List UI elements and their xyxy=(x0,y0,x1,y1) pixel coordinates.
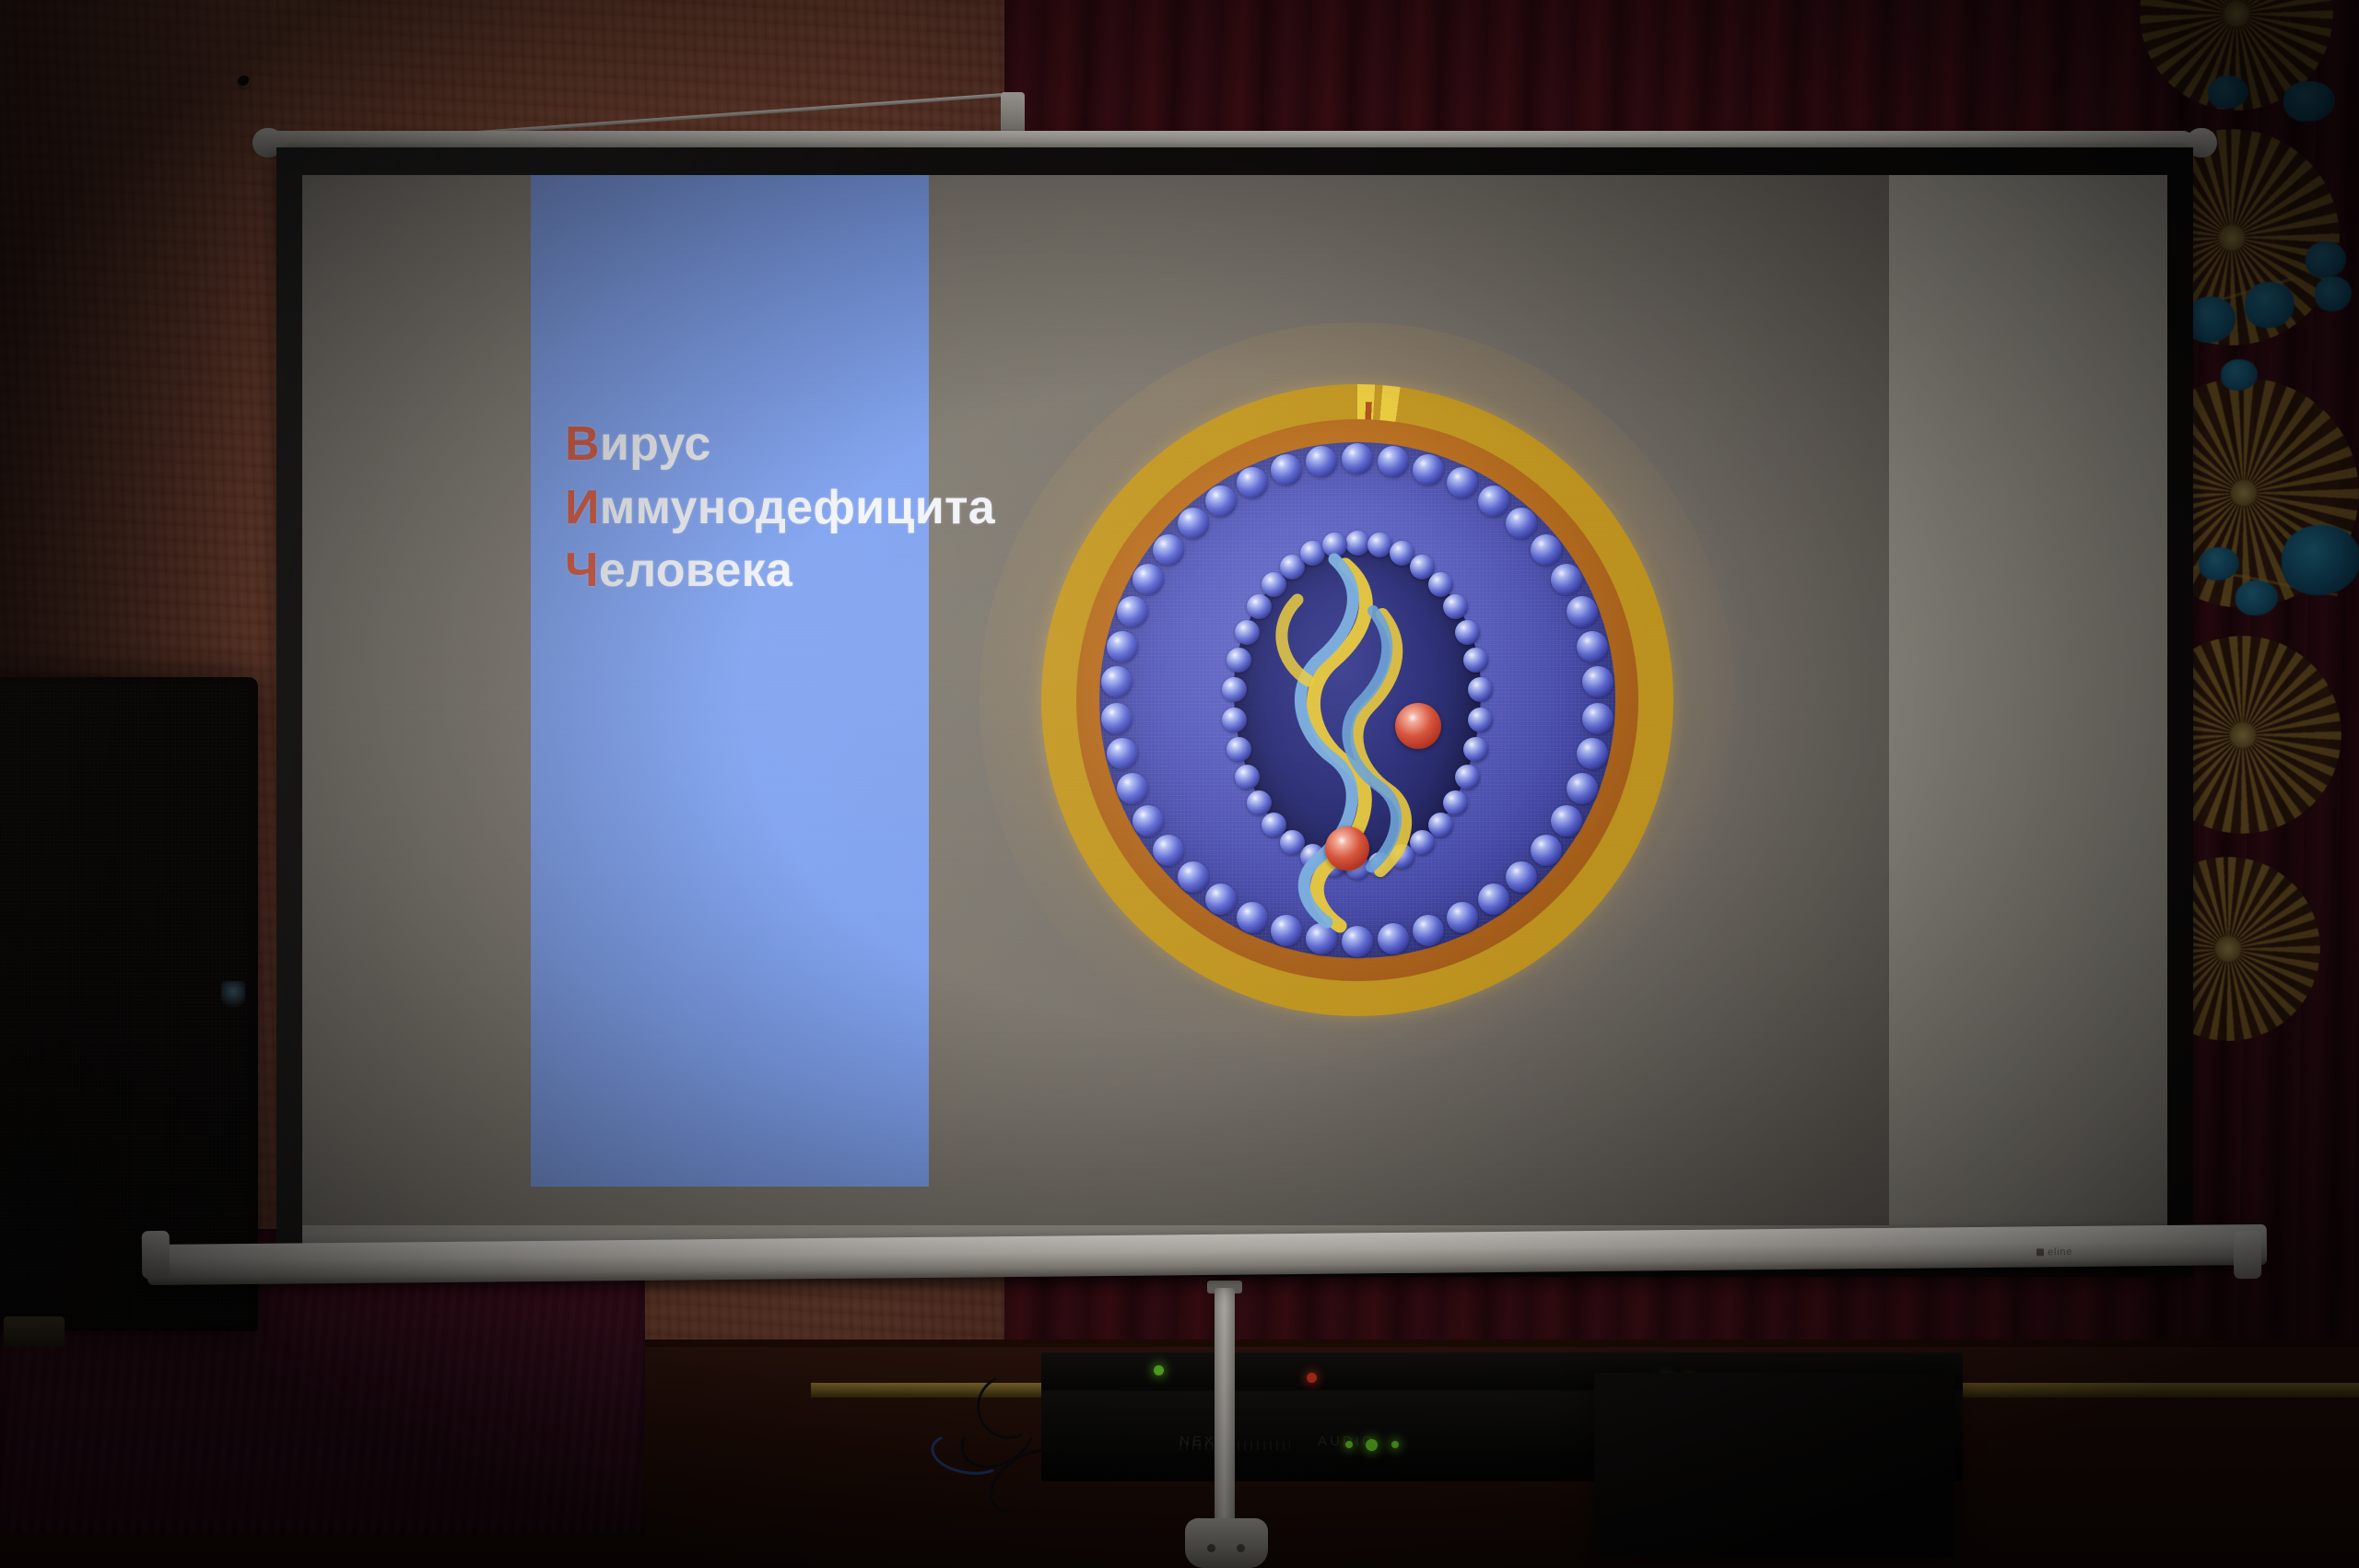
capsid-protein-bead xyxy=(1443,790,1468,815)
reverse-transcriptase-enzyme xyxy=(1325,826,1369,871)
status-led-green xyxy=(1366,1439,1378,1451)
blue-flower-ornament xyxy=(2315,276,2352,311)
title-line-rest: ммунодефицита xyxy=(600,481,995,534)
speaker-badge xyxy=(221,981,245,1011)
title-line-rest: еловека xyxy=(599,544,792,597)
capsid-protein-bead xyxy=(1463,737,1488,762)
capsid-protein-bead xyxy=(1222,708,1247,732)
blue-flower-ornament xyxy=(2236,580,2278,615)
capsid-protein-bead xyxy=(1367,852,1392,877)
screen-brand-text: eline xyxy=(2048,1246,2072,1258)
capsid-protein-bead xyxy=(1468,677,1493,702)
capsid-protein-bead xyxy=(1235,620,1260,645)
speaker-foot xyxy=(4,1316,65,1348)
projection-screen: Вирус Иммунодефицита Человека xyxy=(276,147,2193,1308)
capsid-protein-bead xyxy=(1222,677,1247,702)
capsid-protein-bead xyxy=(1345,531,1370,556)
photo-scene: NEXO AUDIO xyxy=(0,0,2359,1568)
tripod-hub xyxy=(1185,1518,1268,1568)
capsid-protein-bead xyxy=(1455,620,1480,645)
reverse-transcriptase-enzyme xyxy=(1395,703,1441,749)
status-led-green xyxy=(1154,1365,1164,1375)
capsid-protein-bead xyxy=(1247,790,1272,815)
capsid-protein-bead xyxy=(1226,648,1251,673)
status-led-green xyxy=(1391,1441,1399,1448)
capsid-protein-beads xyxy=(947,290,1767,1110)
capsid-protein-bead xyxy=(1247,594,1272,619)
bottom-bar-cap-right xyxy=(2234,1231,2261,1279)
capsid-protein-bead xyxy=(1262,572,1286,597)
capsid-protein-bead xyxy=(1300,844,1325,869)
slide-side-panel xyxy=(531,175,929,1187)
capsid-protein-bead xyxy=(1468,708,1493,732)
projected-slide: Вирус Иммунодефицита Человека xyxy=(302,175,1889,1225)
screen-black-border: Вирус Иммунодефицита Человека xyxy=(276,147,2193,1277)
capsid-protein-bead xyxy=(1455,765,1480,790)
capsid-protein-bead xyxy=(1443,594,1468,619)
status-led-red xyxy=(1307,1373,1317,1383)
capsid-protein-bead xyxy=(1262,813,1286,837)
capsid-protein-bead xyxy=(1235,765,1260,790)
title-accent-letter: И xyxy=(565,481,600,534)
title-accent-letter: Ч xyxy=(565,544,599,597)
capsid-protein-bead xyxy=(1463,648,1488,673)
capsid-protein-bead xyxy=(1390,844,1414,869)
capsid-protein-bead xyxy=(1226,737,1251,762)
blue-flower-ornament xyxy=(2283,81,2335,122)
nail-hole xyxy=(238,76,251,88)
speaker-grille xyxy=(0,683,249,1324)
hiv-virion-diagram xyxy=(947,290,1767,1110)
title-line-rest: ирус xyxy=(600,417,711,471)
screen-brand-logo: eline xyxy=(2036,1246,2121,1259)
capsid-protein-bead xyxy=(1322,532,1347,557)
capsid-protein-bead xyxy=(1428,572,1453,597)
capsid-protein-bead xyxy=(1428,813,1453,837)
loudspeaker-cabinet xyxy=(0,677,258,1331)
tripod-pole xyxy=(1215,1288,1235,1535)
blue-flower-ornament xyxy=(2282,525,2359,595)
title-accent-letter: В xyxy=(565,417,600,471)
bottom-bar-cap-left xyxy=(142,1231,170,1279)
equipment-case xyxy=(1594,1373,1954,1557)
status-led-green xyxy=(1345,1441,1353,1448)
blue-flower-ornament xyxy=(2306,241,2346,278)
capsid-protein-bead xyxy=(1280,830,1305,855)
